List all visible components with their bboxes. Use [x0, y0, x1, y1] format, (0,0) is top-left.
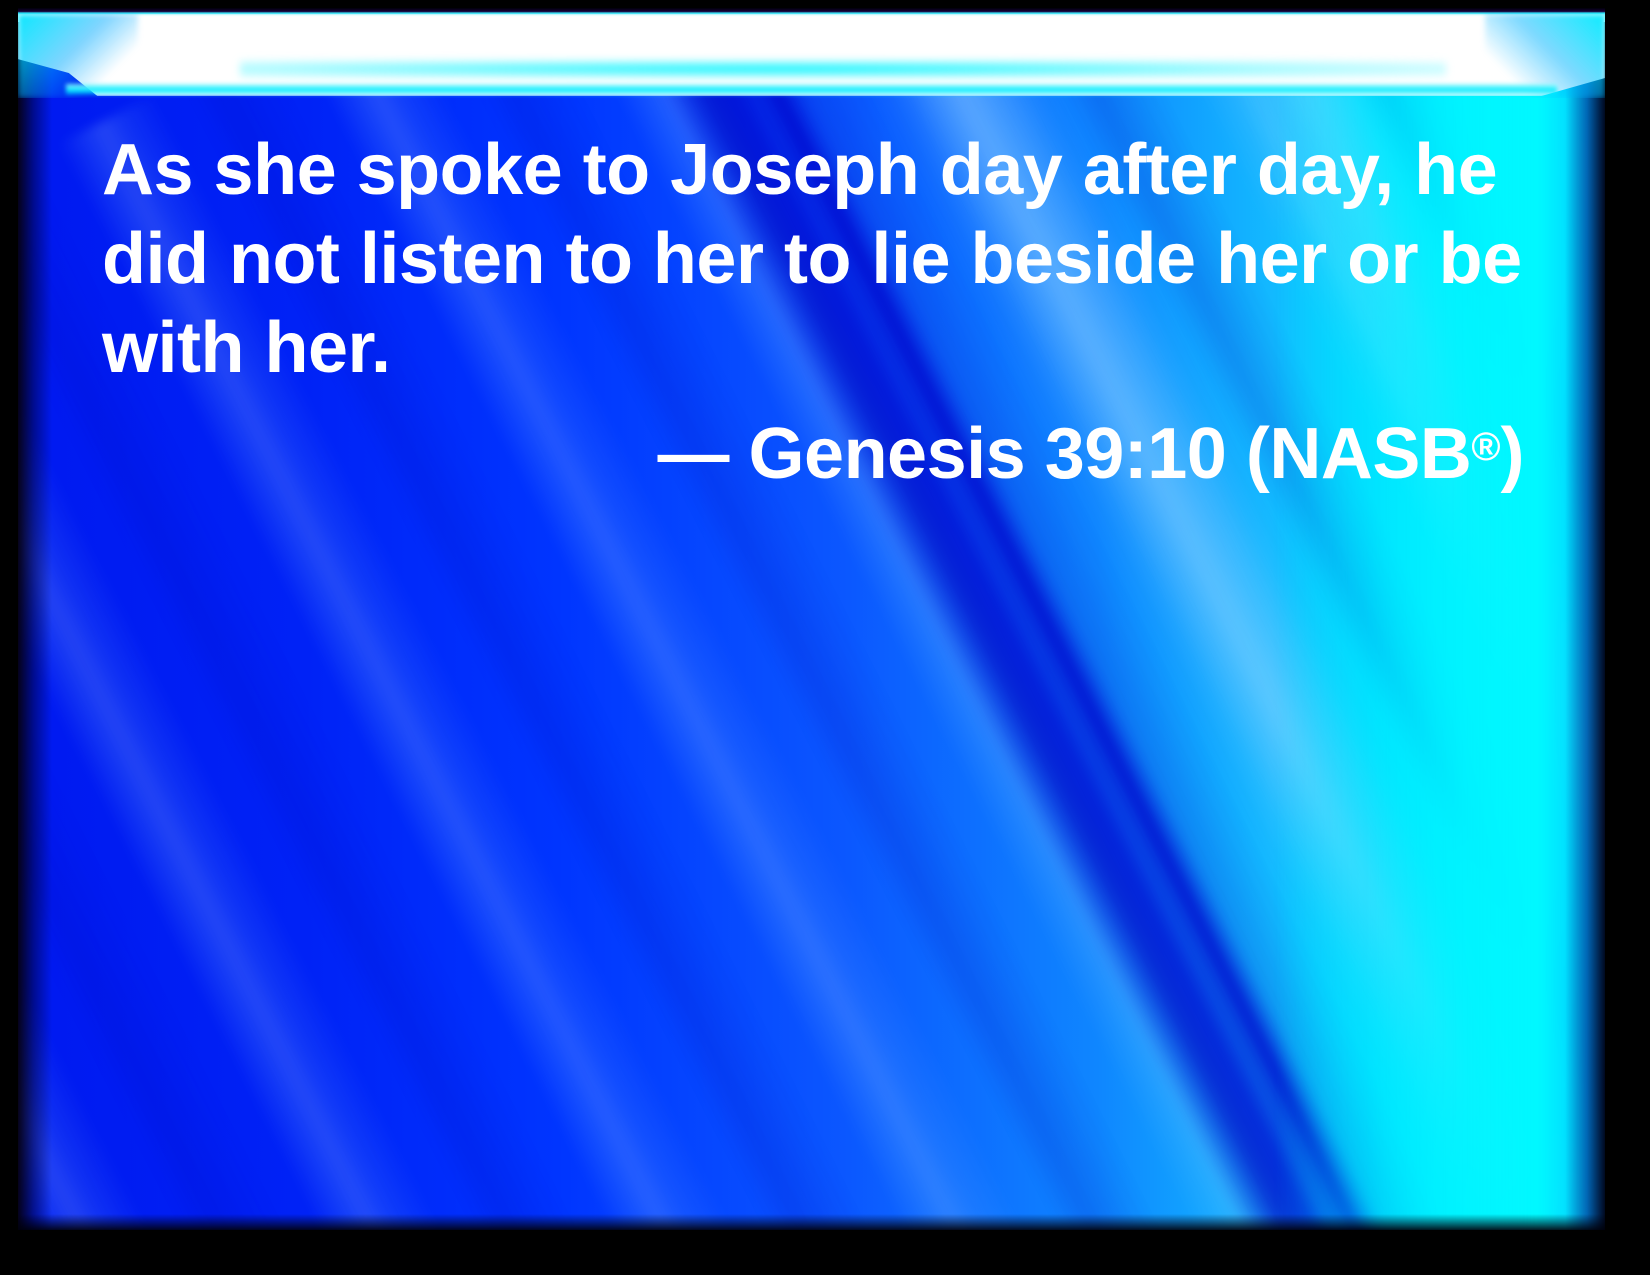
attribution-closing-paren: ): [1501, 414, 1524, 494]
top-banner: [18, 8, 1605, 98]
verse-attribution: — Genesis 39:10 (NASB®): [102, 403, 1572, 499]
verse-block: As she spoke to Joseph day after day, he…: [102, 126, 1572, 499]
attribution-dash: —: [658, 414, 749, 494]
banner-black-cap: [18, 8, 1605, 13]
background-left-vignette: [18, 8, 52, 1230]
banner-cyan-core: [240, 60, 1446, 78]
background-bottom-vignette: [18, 1214, 1605, 1230]
verse-slide: As she spoke to Joseph day after day, he…: [0, 0, 1650, 1275]
slide-artwork: As she spoke to Joseph day after day, he…: [18, 8, 1605, 1230]
verse-body-text: As she spoke to Joseph day after day, he…: [102, 126, 1572, 393]
banner-cyan-underline: [66, 84, 1558, 96]
registered-trademark-icon: ®: [1471, 425, 1500, 469]
attribution-reference: Genesis 39:10 (NASB: [749, 414, 1472, 494]
